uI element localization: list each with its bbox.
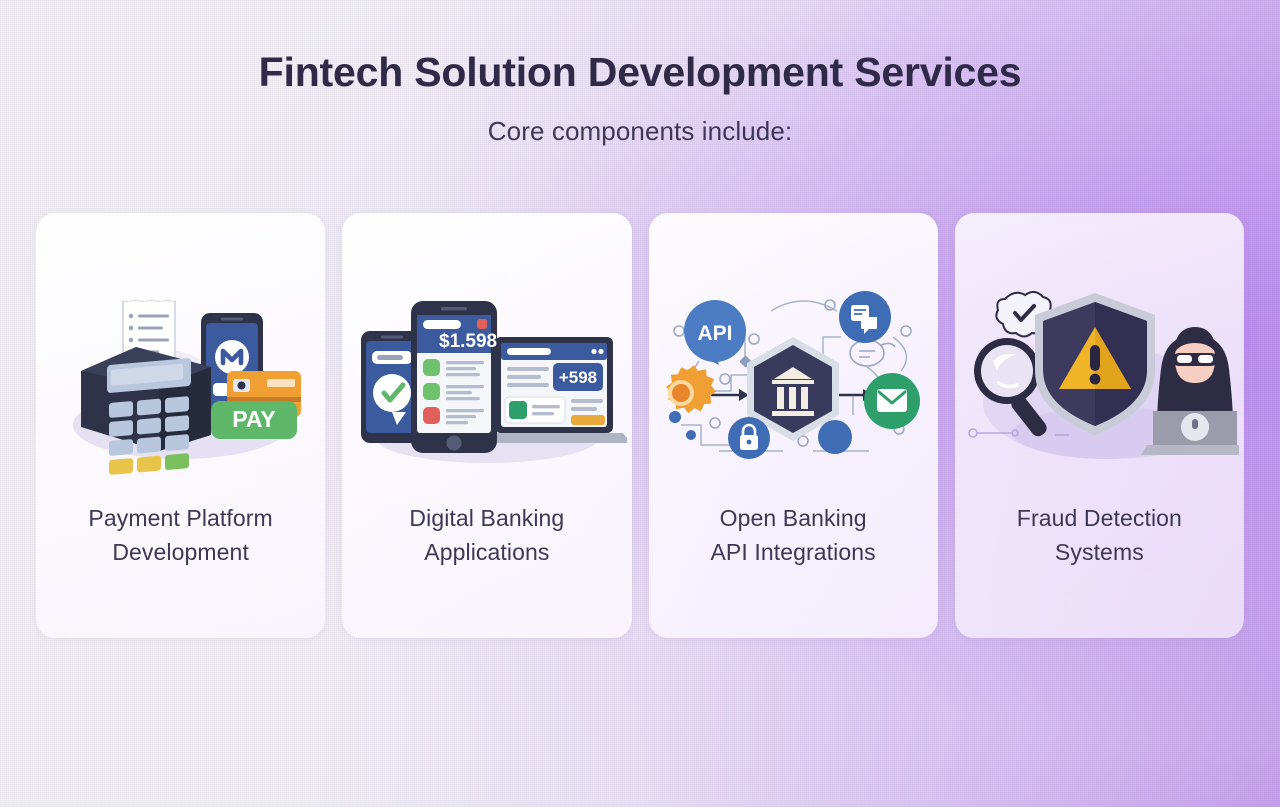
header: Fintech Solution Development Services Co…	[0, 48, 1280, 147]
caption-line-2: Applications	[354, 535, 619, 569]
caption-line-1: Open Banking	[720, 505, 867, 531]
card-caption-digital-banking: Digital Banking Applications	[354, 501, 619, 569]
slide-canvas: Fintech Solution Development Services Co…	[0, 0, 1280, 807]
caption-line-1: Payment Platform	[88, 505, 272, 531]
pos-terminal-illustration: PAY	[36, 275, 325, 475]
api-bubble-label: API	[698, 322, 733, 345]
card-digital-banking[interactable]: +598 $1.598	[342, 213, 631, 638]
fraud-security-svg	[959, 275, 1239, 475]
devices-svg: +598 $1.598	[347, 275, 627, 475]
api-network-svg: API	[653, 275, 933, 475]
page-title: Fintech Solution Development Services	[0, 48, 1280, 96]
fraud-security-illustration	[955, 275, 1244, 475]
caption-line-2: Development	[48, 535, 313, 569]
phone-amount-label: $1.598	[439, 331, 497, 352]
caption-line-1: Fraud Detection	[1017, 505, 1182, 531]
card-grid: PAY Payment Platform Development	[36, 213, 1244, 638]
caption-line-1: Digital Banking	[409, 505, 564, 531]
page-subtitle: Core components include:	[0, 116, 1280, 147]
laptop-amount-label: +598	[559, 368, 597, 387]
card-open-banking-api[interactable]: API	[649, 213, 938, 638]
card-caption-open-banking-api: Open Banking API Integrations	[661, 501, 926, 569]
caption-line-2: API Integrations	[661, 535, 926, 569]
gear-icon	[666, 365, 716, 413]
caption-line-2: Systems	[967, 535, 1232, 569]
pay-button-label: PAY	[232, 406, 275, 432]
multi-device-banking-illustration: +598 $1.598	[342, 275, 631, 475]
card-caption-payment-platform: Payment Platform Development	[48, 501, 313, 569]
card-caption-fraud-detection: Fraud Detection Systems	[967, 501, 1232, 569]
api-network-illustration: API	[649, 275, 938, 475]
card-fraud-detection[interactable]: Fraud Detection Systems	[955, 213, 1244, 638]
pos-terminal-svg: PAY	[41, 275, 321, 475]
card-payment-platform[interactable]: PAY Payment Platform Development	[36, 213, 325, 638]
